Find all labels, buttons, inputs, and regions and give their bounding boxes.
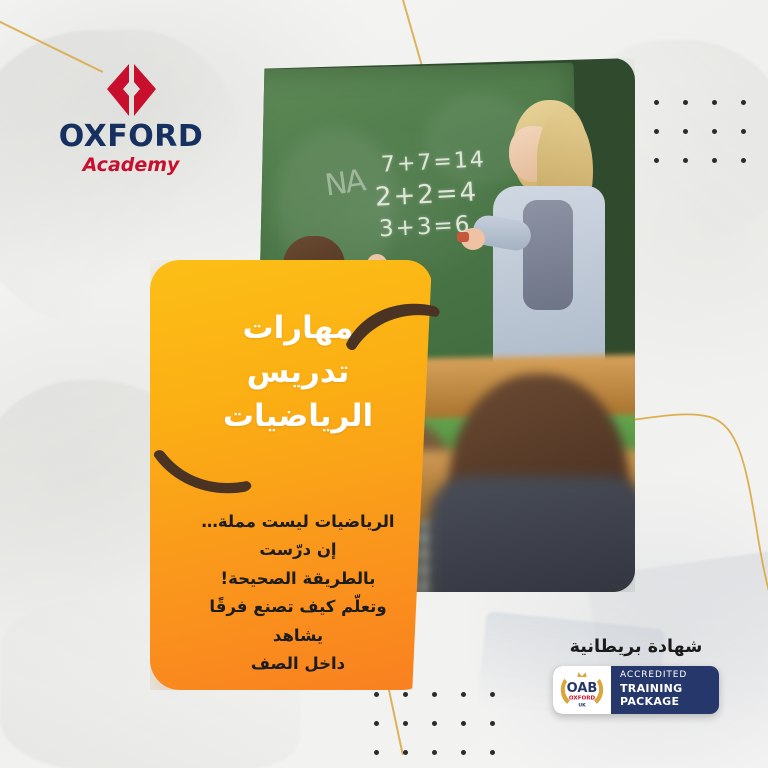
chalk-scribble: NA [323,163,366,203]
svg-text:OAB: OAB [567,681,598,696]
badge-line-2: TRAINING PACKAGE [620,682,719,710]
badge-line-1: ACCREDITED [620,670,719,681]
oxford-diamond-mark-icon [103,62,159,118]
body-copy: الرياضيات ليست مملة… إن درّست بالطريقة ا… [194,508,402,678]
accreditation-badge-text: ACCREDITED TRAINING PACKAGE [611,666,719,714]
headline-body-spacer [194,438,402,508]
dot-grid-bottom-center [374,692,495,755]
poster-canvas: NA 7+7=14 2+2=4 3+3=6 [0,0,768,768]
oab-seal-icon: OAB OXFORD UK [553,666,611,714]
dot-grid-top-right [654,100,768,163]
page-title: مهارات تدريس الرياضيات [194,306,402,438]
certificate-caption: شهادة بريطانية [548,636,724,659]
svg-text:OXFORD: OXFORD [569,695,596,701]
teacher-shirt [523,200,573,310]
body-line-1: الرياضيات ليست مملة… إن درّست [194,508,402,565]
headline-line-3: الرياضيات [194,394,402,438]
chalk-equation-2: 2+2=4 [374,177,479,212]
teacher-chalk [457,232,469,242]
accreditation-badge[interactable]: OAB OXFORD UK ACCREDITED TRAINING PACKAG… [553,666,719,714]
brand-logo[interactable]: OXFORD Academy [46,62,216,178]
foreground-student-right-body [429,476,635,592]
headline-card-content: مهارات تدريس الرياضيات الرياضيات ليست مم… [150,260,432,690]
brand-name-primary: OXFORD [46,122,216,152]
headline-card: مهارات تدريس الرياضيات الرياضيات ليست مم… [150,260,432,690]
certificate-block: شهادة بريطانية OAB OXFORD UK ACCREDITED … [548,636,724,714]
body-line-4: داخل الصف [194,650,402,678]
headline-line-2: تدريس [194,350,402,394]
body-line-2: بالطريقة الصحيحة! [194,565,402,593]
brand-name-secondary: Academy [46,153,216,178]
body-line-3: وتعلّم كيف تصنع فرقًا يشاهد [194,593,402,650]
svg-text:UK: UK [578,702,586,708]
headline-line-1: مهارات [194,306,402,350]
